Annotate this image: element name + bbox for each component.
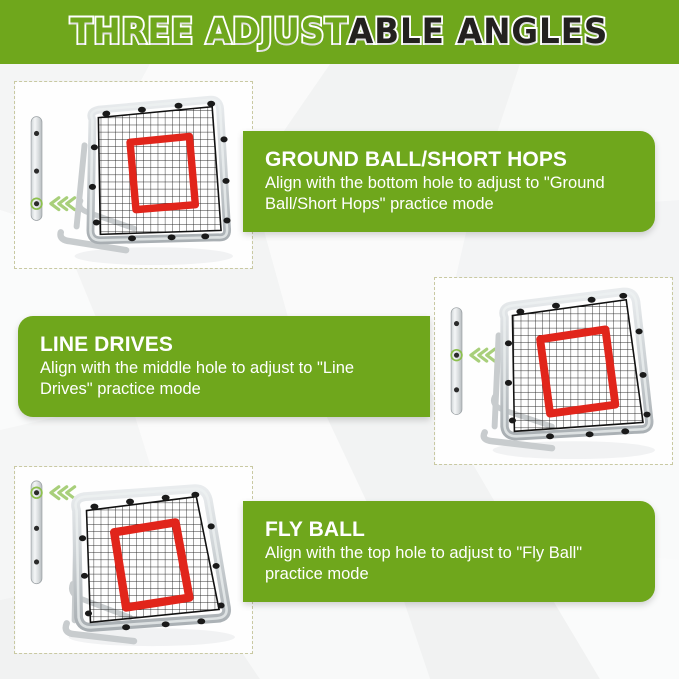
adjustment-post <box>31 481 42 584</box>
adjustment-post <box>451 308 462 415</box>
panel-description-ground-ball: Align with the bottom hole to adjust to … <box>265 173 633 215</box>
panel-fly-ball: FLY BALL Align with the top hole to adju… <box>243 501 655 602</box>
page-title: THREE ADJUSTABLE ANGLES <box>70 15 608 50</box>
adjustment-post <box>31 117 42 221</box>
panel-title-fly-ball: FLY BALL <box>265 518 633 542</box>
photo-line-drives <box>434 277 673 465</box>
panel-title-ground-ball: GROUND BALL/SHORT HOPS <box>265 148 633 172</box>
photo-ground-ball <box>14 81 253 269</box>
panel-description-line-drives: Align with the middle hole to adjust to … <box>40 358 408 400</box>
infographic-page: THREE ADJUSTABLE ANGLES <box>0 0 679 679</box>
page-title-green-part: THREE ADJUST <box>70 15 348 50</box>
panel-title-line-drives: LINE DRIVES <box>40 333 408 357</box>
panel-ground-ball: GROUND BALL/SHORT HOPS Align with the bo… <box>243 131 655 232</box>
photo-fly-ball <box>14 466 253 654</box>
panel-description-fly-ball: Align with the top hole to adjust to "Fl… <box>265 543 633 585</box>
page-header: THREE ADJUSTABLE ANGLES <box>0 0 679 64</box>
panel-line-drives: LINE DRIVES Align with the middle hole t… <box>18 316 430 417</box>
page-title-dark-part: ABLE ANGLES <box>348 15 608 50</box>
